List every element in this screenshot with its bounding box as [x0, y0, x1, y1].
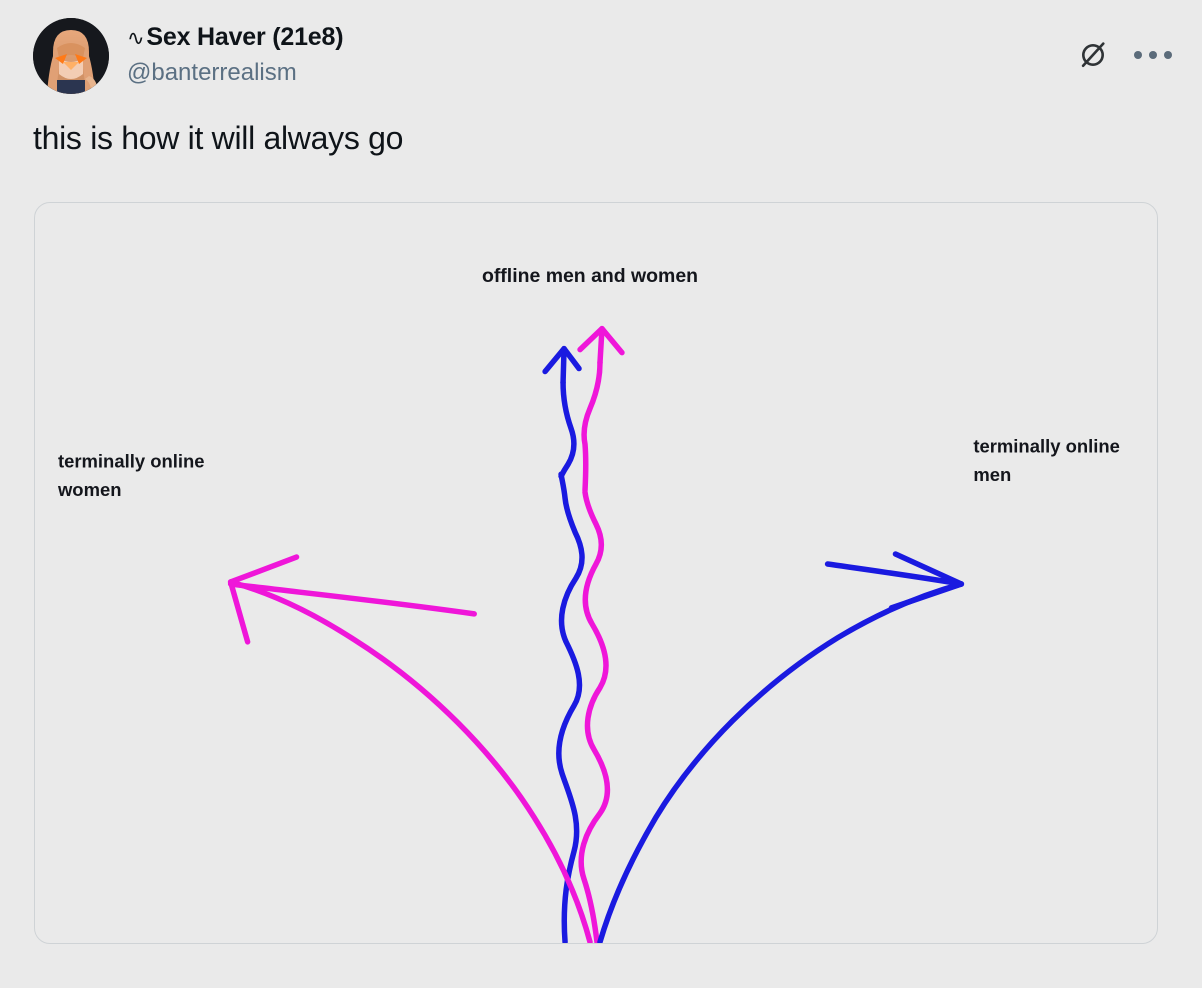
display-name-text: Sex Haver (21e8)	[146, 23, 343, 51]
label-terminally-online-women-line2: women	[57, 479, 122, 500]
more-dot	[1134, 51, 1142, 59]
tweet-text: this is how it will always go	[0, 98, 1202, 160]
tweet-header: ∿Sex Haver (21e8) @banterrealism	[0, 18, 1202, 98]
label-terminally-online-men-line2: men	[973, 464, 1011, 485]
display-name[interactable]: ∿Sex Haver (21e8)	[127, 22, 343, 53]
tweet-container: ∿Sex Haver (21e8) @banterrealism this is…	[0, 0, 1202, 988]
avatar[interactable]	[33, 18, 109, 94]
label-offline: offline men and women	[482, 265, 698, 287]
author-block: ∿Sex Haver (21e8) @banterrealism	[127, 18, 343, 88]
magenta-arrow-inner	[231, 584, 475, 614]
user-handle[interactable]: @banterrealism	[127, 57, 343, 88]
more-dot	[1149, 51, 1157, 59]
hand-drawn-diagram: offline men and women terminally online …	[35, 203, 1157, 943]
more-dot	[1164, 51, 1172, 59]
label-terminally-online-men-line1: terminally online	[973, 435, 1120, 456]
grok-icon[interactable]	[1076, 38, 1110, 72]
more-horizontal-icon[interactable]	[1132, 45, 1174, 65]
media-card[interactable]: offline men and women terminally online …	[34, 202, 1158, 944]
header-actions	[1076, 38, 1174, 72]
blue-right-branch	[600, 554, 961, 942]
tilde-glyph: ∿	[127, 27, 144, 50]
blue-helix-strand	[545, 349, 582, 942]
magenta-left-branch	[231, 557, 590, 942]
magenta-helix-strand	[580, 329, 622, 942]
label-terminally-online-women-line1: terminally online	[58, 450, 205, 471]
